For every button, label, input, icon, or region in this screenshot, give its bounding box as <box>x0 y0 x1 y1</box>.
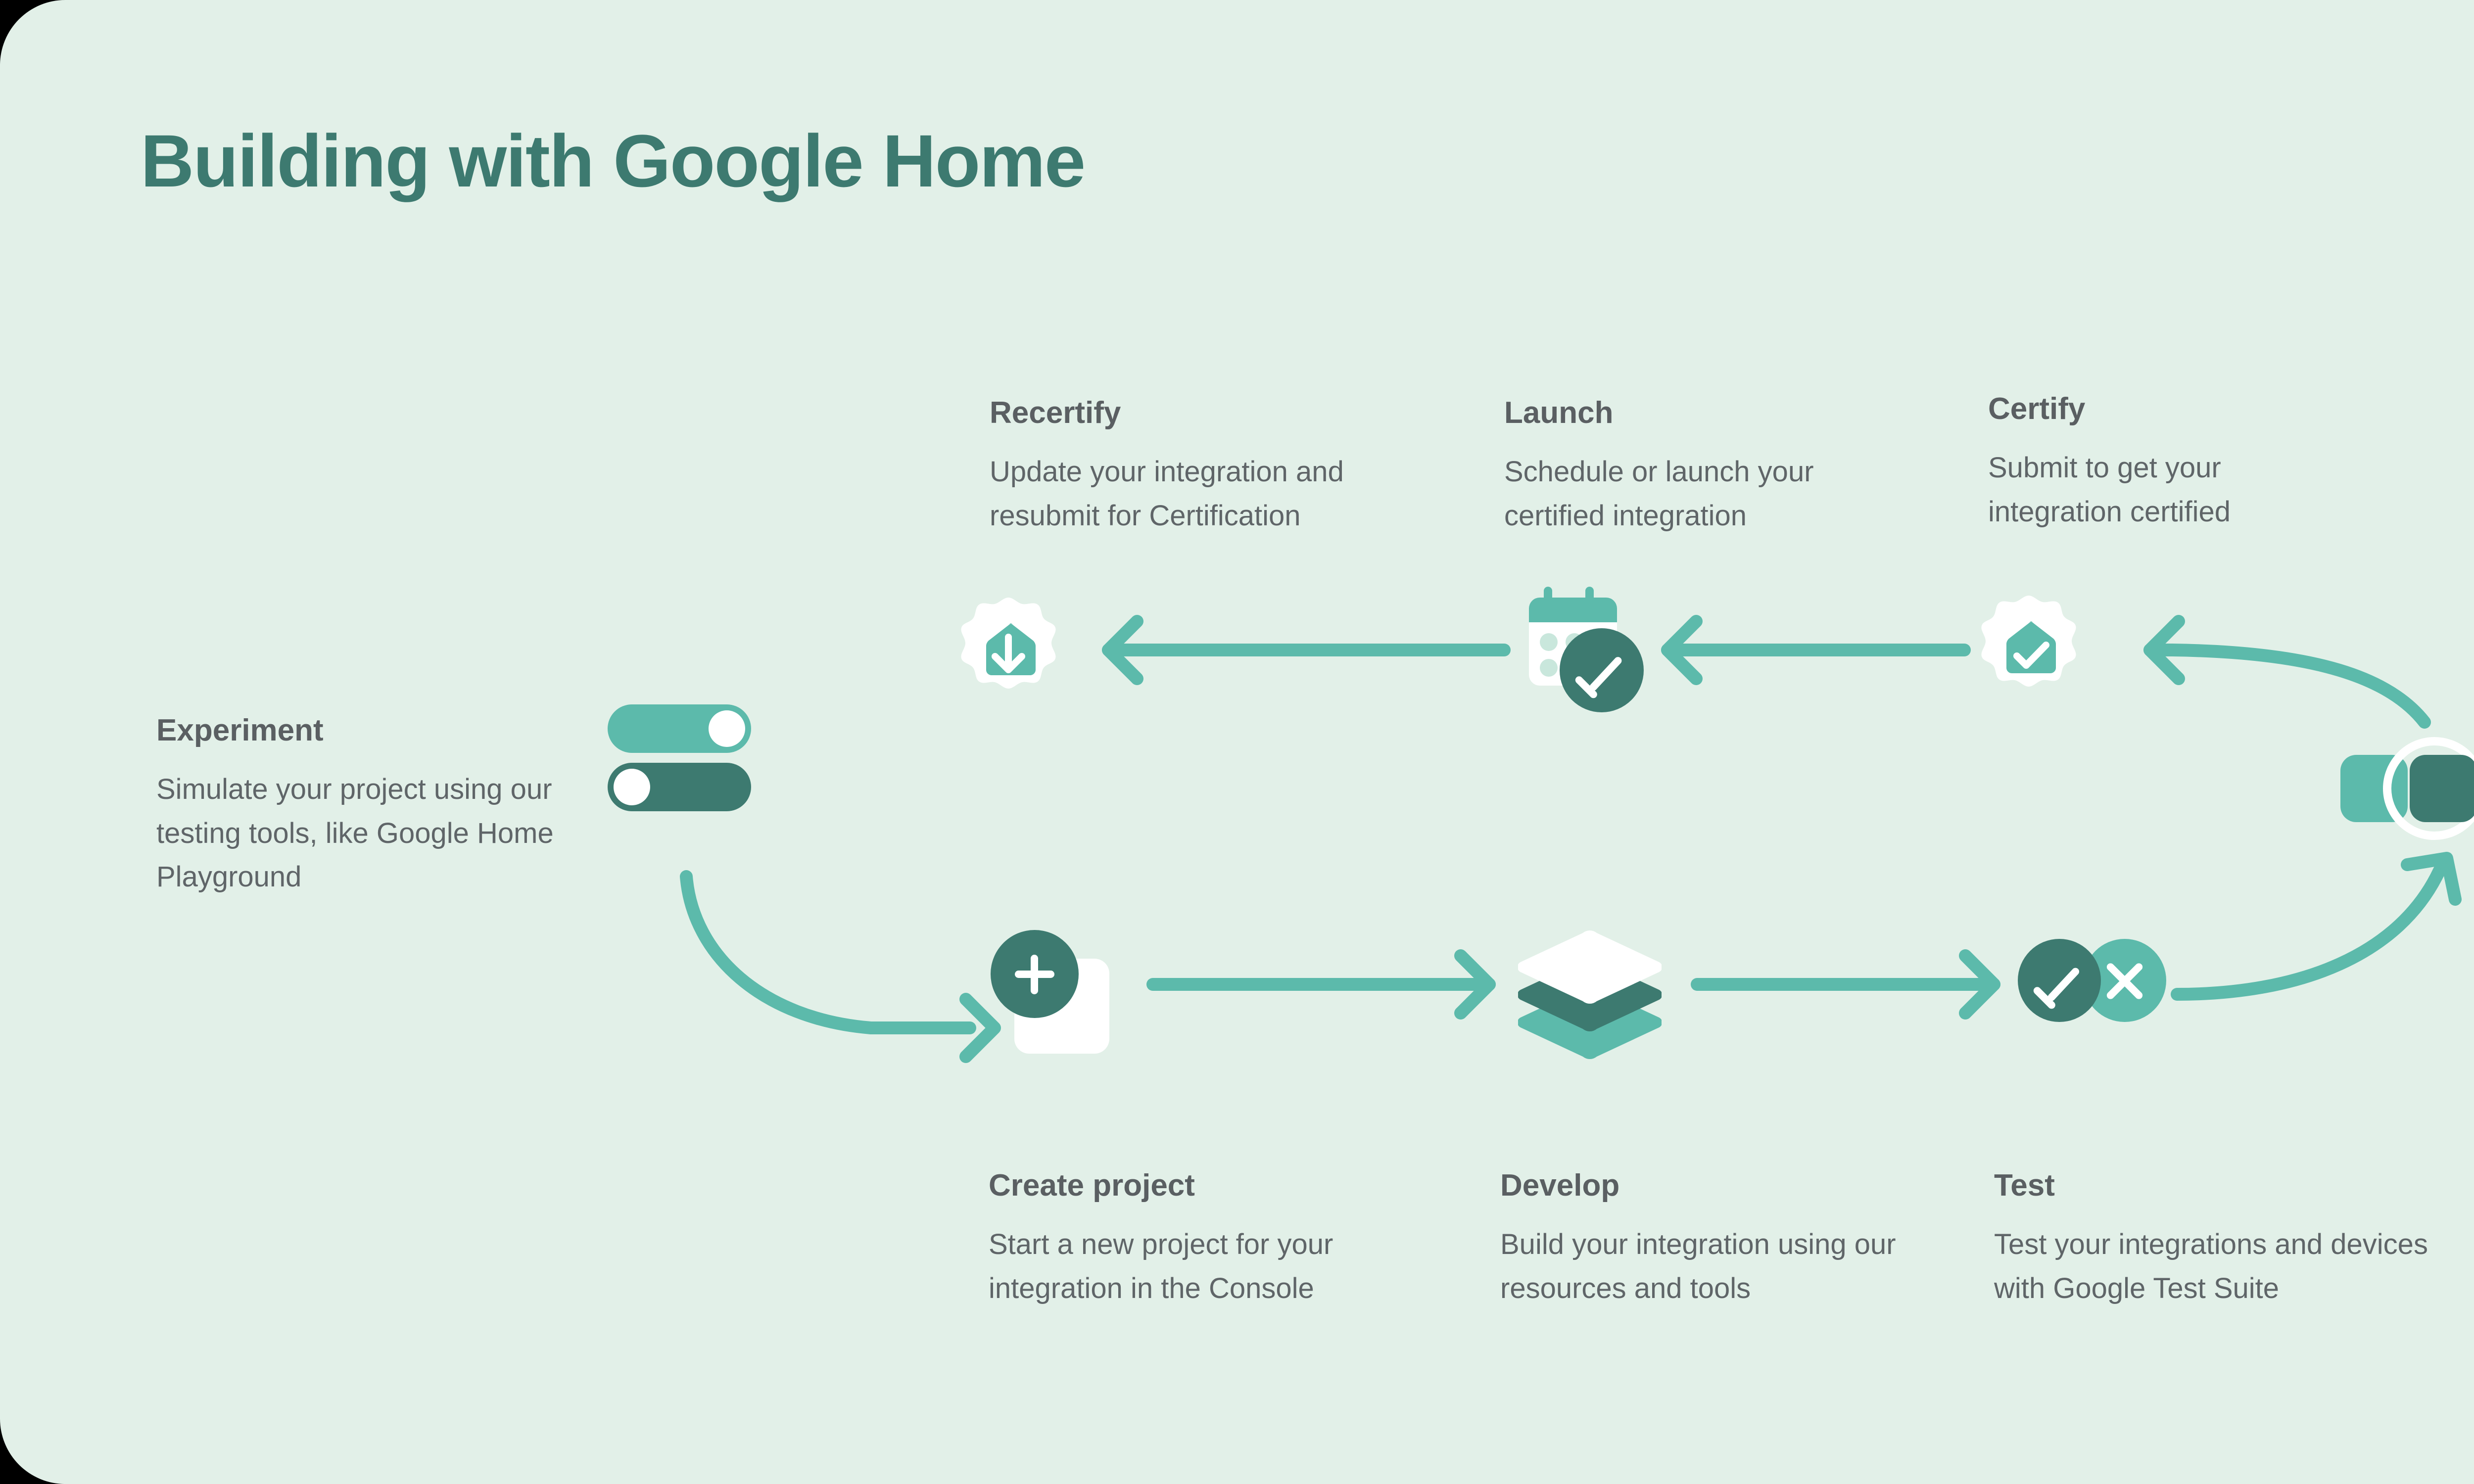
step-experiment: Experiment Simulate your project using o… <box>156 712 592 899</box>
page-title: Building with Google Home <box>141 124 1085 198</box>
arrow-experiment-to-create <box>686 877 995 1057</box>
diagram-card: Building with Google Home .ln{fill:none;… <box>0 0 2474 1484</box>
toggle-switches-icon <box>608 704 756 813</box>
step-body: Submit to get your integration certified <box>1988 446 2334 533</box>
step-body: Test your integrations and devices with … <box>1994 1223 2459 1310</box>
layers-icon <box>1518 930 1662 1044</box>
step-heading: Test <box>1994 1167 2459 1204</box>
step-body: Simulate your project using our testing … <box>156 768 592 898</box>
step-heading: Recertify <box>990 395 1405 431</box>
pass-fail-icon <box>2018 939 2166 1022</box>
step-launch: Launch Schedule or launch your certified… <box>1504 395 1880 538</box>
step-create-project: Create project Start a new project for y… <box>989 1167 1434 1310</box>
arrow-certify-to-launch <box>1667 621 1964 679</box>
step-body: Update your integration and resubmit for… <box>990 450 1405 537</box>
step-certify: Certify Submit to get your integration c… <box>1988 391 2334 534</box>
certified-badge-icon <box>1975 594 2082 700</box>
arrow-develop-to-test <box>1697 956 1994 1013</box>
step-heading: Create project <box>989 1167 1434 1204</box>
badge-download-icon <box>955 596 1062 702</box>
arrow-test-to-fieldtrial <box>2177 858 2455 994</box>
step-body: Build your integration using our resourc… <box>1500 1223 1946 1310</box>
step-develop: Develop Build your integration using our… <box>1500 1167 1946 1310</box>
arrow-launch-to-recertify <box>1108 621 1504 679</box>
calendar-check-icon <box>1522 587 1646 715</box>
step-heading: Experiment <box>156 712 592 749</box>
devices-ring-icon <box>2340 737 2474 846</box>
arrow-fieldtrial-to-certify <box>2150 621 2425 722</box>
add-document-icon <box>991 930 1109 1054</box>
arrow-create-to-develop <box>1153 956 1489 1013</box>
step-heading: Launch <box>1504 395 1880 431</box>
step-heading: Certify <box>1988 391 2334 427</box>
step-body: Start a new project for your integration… <box>989 1223 1434 1310</box>
step-heading: Develop <box>1500 1167 1946 1204</box>
step-test: Test Test your integrations and devices … <box>1994 1167 2459 1310</box>
step-body: Schedule or launch your certified integr… <box>1504 450 1880 537</box>
step-recertify: Recertify Update your integration and re… <box>990 395 1405 538</box>
